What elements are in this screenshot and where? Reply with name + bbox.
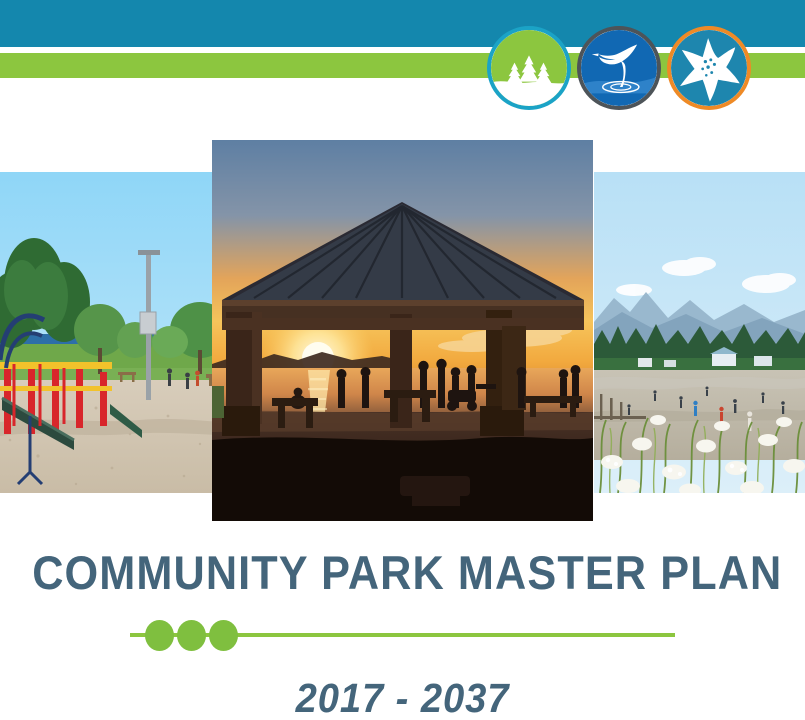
divider-dot-3 [209,620,238,651]
evergreen-trees-badge [487,26,571,110]
document-cover-page: COMMUNITY PARK MASTER PLAN 2017 - 2037 [0,0,805,720]
title-block: COMMUNITY PARK MASTER PLAN 2017 - 2037 [0,545,805,720]
green-dot-divider [130,617,675,653]
starfish-icon [671,30,747,106]
starfish-badge [667,26,751,110]
heron-bird-icon [581,30,657,106]
divider-dot-2 [177,620,206,651]
trees-icon [491,30,567,106]
heron-badge [577,26,661,110]
page-title: COMMUNITY PARK MASTER PLAN [32,545,773,601]
logo-badge-group [487,26,757,111]
divider-dot-1 [145,620,174,651]
plan-date-range: 2017 - 2037 [28,675,777,720]
beach-wildflowers-photo [594,172,805,493]
picnic-shelter-sunset-photo [212,140,593,521]
